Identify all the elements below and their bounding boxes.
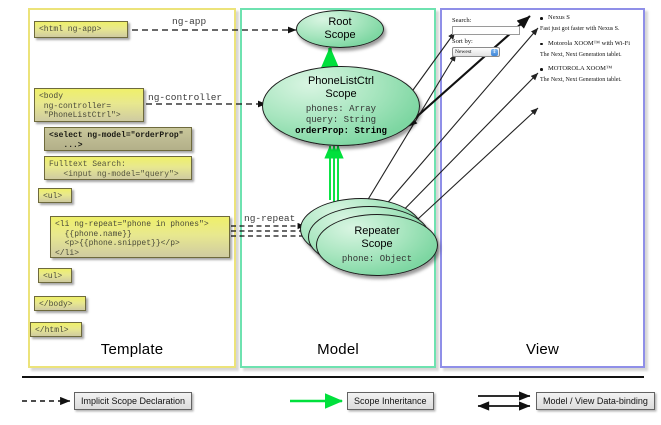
phone-snippet: Fast just got faster with Nexus S. bbox=[540, 25, 644, 33]
sort-by-label: Sort by: bbox=[452, 37, 530, 46]
sort-by-select[interactable]: Newest ⇕ bbox=[452, 47, 500, 57]
ng-controller-edge-label: ng-controller bbox=[148, 92, 222, 103]
phone-name: MOTOROLA XOOM™ bbox=[540, 65, 644, 73]
model-column-label: Model bbox=[240, 341, 436, 358]
repeater-prop-phone: phone: Object bbox=[342, 254, 412, 265]
phonelistctrl-scope-ellipse: PhoneListCtrl Scope phones: Array query:… bbox=[262, 66, 420, 146]
repeater-scope-title-line2: Scope bbox=[361, 238, 392, 250]
phone-name: Nexus S bbox=[540, 14, 644, 22]
search-input[interactable] bbox=[452, 26, 520, 35]
legend-divider bbox=[22, 376, 644, 378]
legend-implicit-scope-declaration: Implicit Scope Declaration bbox=[74, 392, 192, 410]
phonelistctrl-scope-title-line2: Scope bbox=[325, 88, 356, 100]
list-item: Motorola XOOM™ with Wi-Fi The Next, Next… bbox=[540, 40, 644, 59]
phonelistctrl-prop-query: query: String bbox=[295, 115, 387, 126]
legend-data-binding: Model / View Data-binding bbox=[536, 392, 655, 410]
chevron-down-icon: ⇕ bbox=[491, 49, 498, 56]
root-scope-title-line2: Scope bbox=[324, 29, 355, 41]
ng-app-edge-label: ng-app bbox=[172, 16, 206, 27]
phone-list: Nexus S Fast just got faster with Nexus … bbox=[540, 14, 644, 91]
diagram-canvas: Template Model View bbox=[0, 0, 661, 425]
phonelistctrl-prop-orderprop: orderProp: String bbox=[295, 126, 387, 136]
model-column bbox=[240, 8, 436, 368]
html-close-box: </html> bbox=[30, 322, 82, 337]
legend-scope-inheritance: Scope Inheritance bbox=[347, 392, 434, 410]
view-search-form: Search: Sort by: Newest ⇕ bbox=[452, 16, 530, 57]
repeater-scope-ellipse: Repeater Scope phone: Object bbox=[316, 214, 438, 276]
ng-repeat-edge-label: ng-repeat bbox=[244, 213, 295, 224]
fulltext-search-box: Fulltext Search: <input ng-model="query"… bbox=[44, 156, 192, 180]
list-item: Nexus S Fast just got faster with Nexus … bbox=[540, 14, 644, 33]
root-scope-ellipse: Root Scope bbox=[296, 10, 384, 48]
phonelistctrl-prop-phones: phones: Array bbox=[295, 104, 387, 115]
template-column-label: Template bbox=[28, 341, 236, 358]
ul-open-box: <ul> bbox=[38, 188, 72, 203]
phonelistctrl-scope-title-line1: PhoneListCtrl bbox=[308, 75, 374, 87]
search-label: Search: bbox=[452, 16, 530, 25]
phone-snippet: The Next, Next Generation tablet. bbox=[540, 51, 644, 59]
phone-snippet: The Next, Next Generation tablet. bbox=[540, 76, 644, 84]
repeater-scope-title-line1: Repeater bbox=[354, 225, 399, 237]
body-close-box: </body> bbox=[34, 296, 86, 311]
root-scope-title-line1: Root bbox=[328, 16, 351, 28]
body-controller-box: <body ng-controller= "PhoneListCtrl"> bbox=[34, 88, 144, 122]
phone-name: Motorola XOOM™ with Wi-Fi bbox=[540, 40, 644, 48]
li-ng-repeat-box: <li ng-repeat="phone in phones"> {{phone… bbox=[50, 216, 230, 258]
ul-close-box: <ul> bbox=[38, 268, 72, 283]
view-column-label: View bbox=[440, 341, 645, 358]
list-item: MOTOROLA XOOM™ The Next, Next Generation… bbox=[540, 65, 644, 84]
select-orderprop-box: <select ng-model="orderProp" ...> bbox=[44, 127, 192, 151]
sort-by-selected-value: Newest bbox=[455, 49, 472, 55]
html-tag-box: <html ng-app> bbox=[34, 21, 128, 38]
